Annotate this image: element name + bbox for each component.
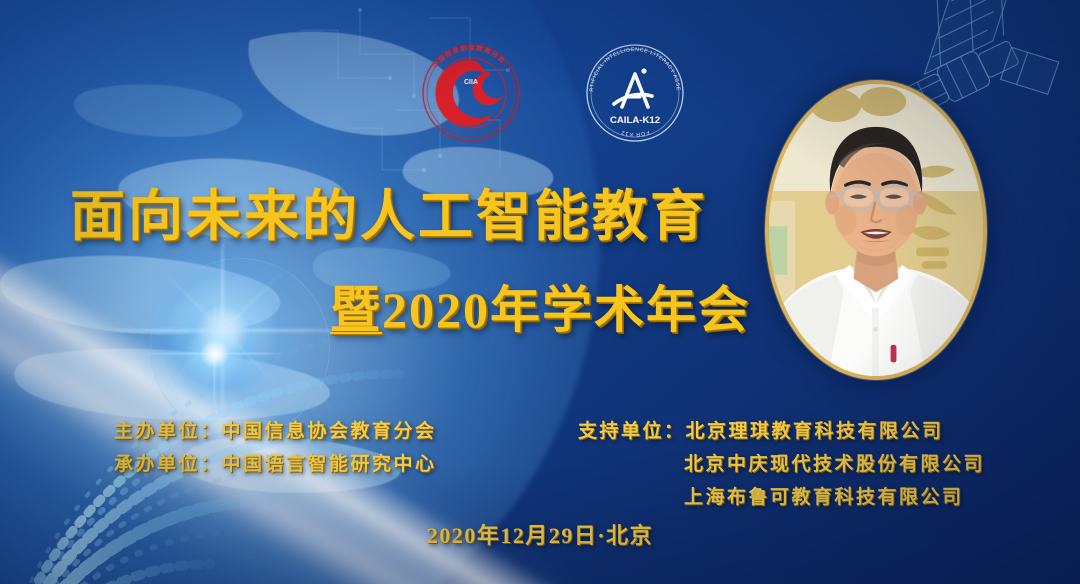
ciia-acronym: CIIA: [464, 79, 478, 86]
subtitle-underlined-char: 暨: [330, 282, 382, 338]
host-line: 主办单位：中国信息协会教育分会: [114, 415, 437, 448]
supporter-line-2: 北京中庆现代技术股份有限公司: [578, 448, 985, 481]
organizer-block: 主办单位：中国信息协会教育分会 承办单位：中国语言智能研究中心: [114, 415, 437, 481]
organizer-line: 承办单位：中国语言智能研究中心: [114, 448, 437, 481]
organizer-logos: 中国信息协会教育分会 CIIA CHINA ARTIFICIAL INTELLI…: [416, 38, 690, 148]
conference-poster: 中国信息协会教育分会 CIIA CHINA ARTIFICIAL INTELLI…: [0, 0, 1080, 584]
speaker-headshot-image: [769, 84, 983, 376]
date-and-city: 2020年12月29日·北京: [0, 518, 1080, 550]
speaker-portrait: [765, 80, 987, 380]
caila-acronym: CAILA-K12: [610, 115, 660, 126]
supporter-line-1: 支持单位：北京理琪教育科技有限公司: [578, 415, 985, 448]
subtitle-rest: 2020年学术年会: [382, 282, 750, 338]
supporter-block: 支持单位：北京理琪教育科技有限公司 北京中庆现代技术股份有限公司 上海布鲁可教育…: [578, 415, 985, 514]
ciia-emblem-logo: 中国信息协会教育分会 CIIA: [416, 38, 526, 148]
caila-k12-emblem-logo: CHINA ARTIFICIAL INTELLIGENCE LITERACY A…: [580, 38, 690, 148]
poster-title: 面向未来的人工智能教育: [70, 186, 708, 248]
supporter-line-3: 上海布鲁可教育科技有限公司: [578, 481, 985, 514]
poster-subtitle: 暨2020年学术年会: [330, 283, 750, 338]
